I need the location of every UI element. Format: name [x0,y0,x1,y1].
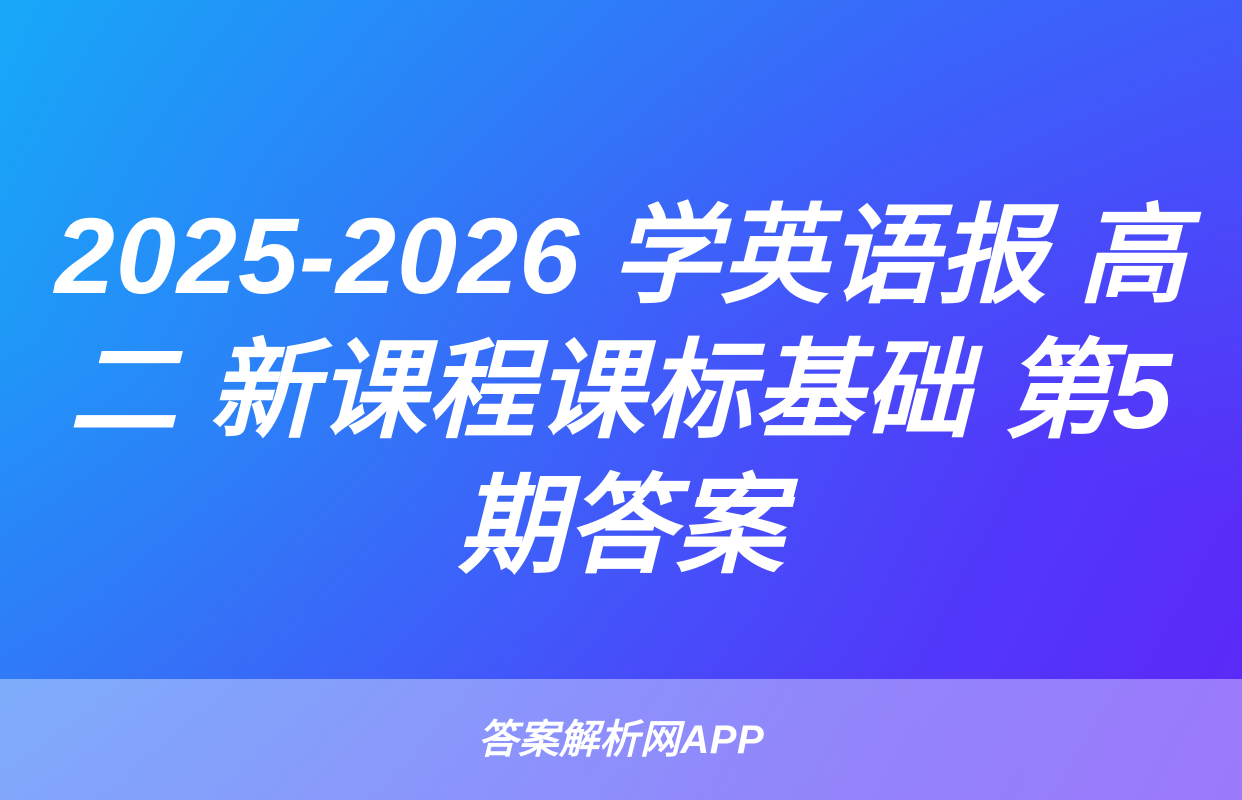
footer-bar: 答案解析网APP [0,679,1242,800]
page-title: 2025-2026 学英语报 高 二 新课程课标基础 第5 期答案 [0,188,1242,593]
title-line-1: 2025-2026 学英语报 高 [48,188,1194,323]
poster-canvas: 2025-2026 学英语报 高 二 新课程课标基础 第5 期答案 答案解析网A… [0,0,1242,800]
app-watermark: 答案解析网APP [478,720,764,760]
title-line-3: 期答案 [48,458,1194,593]
title-line-2: 二 新课程课标基础 第5 [48,323,1194,458]
